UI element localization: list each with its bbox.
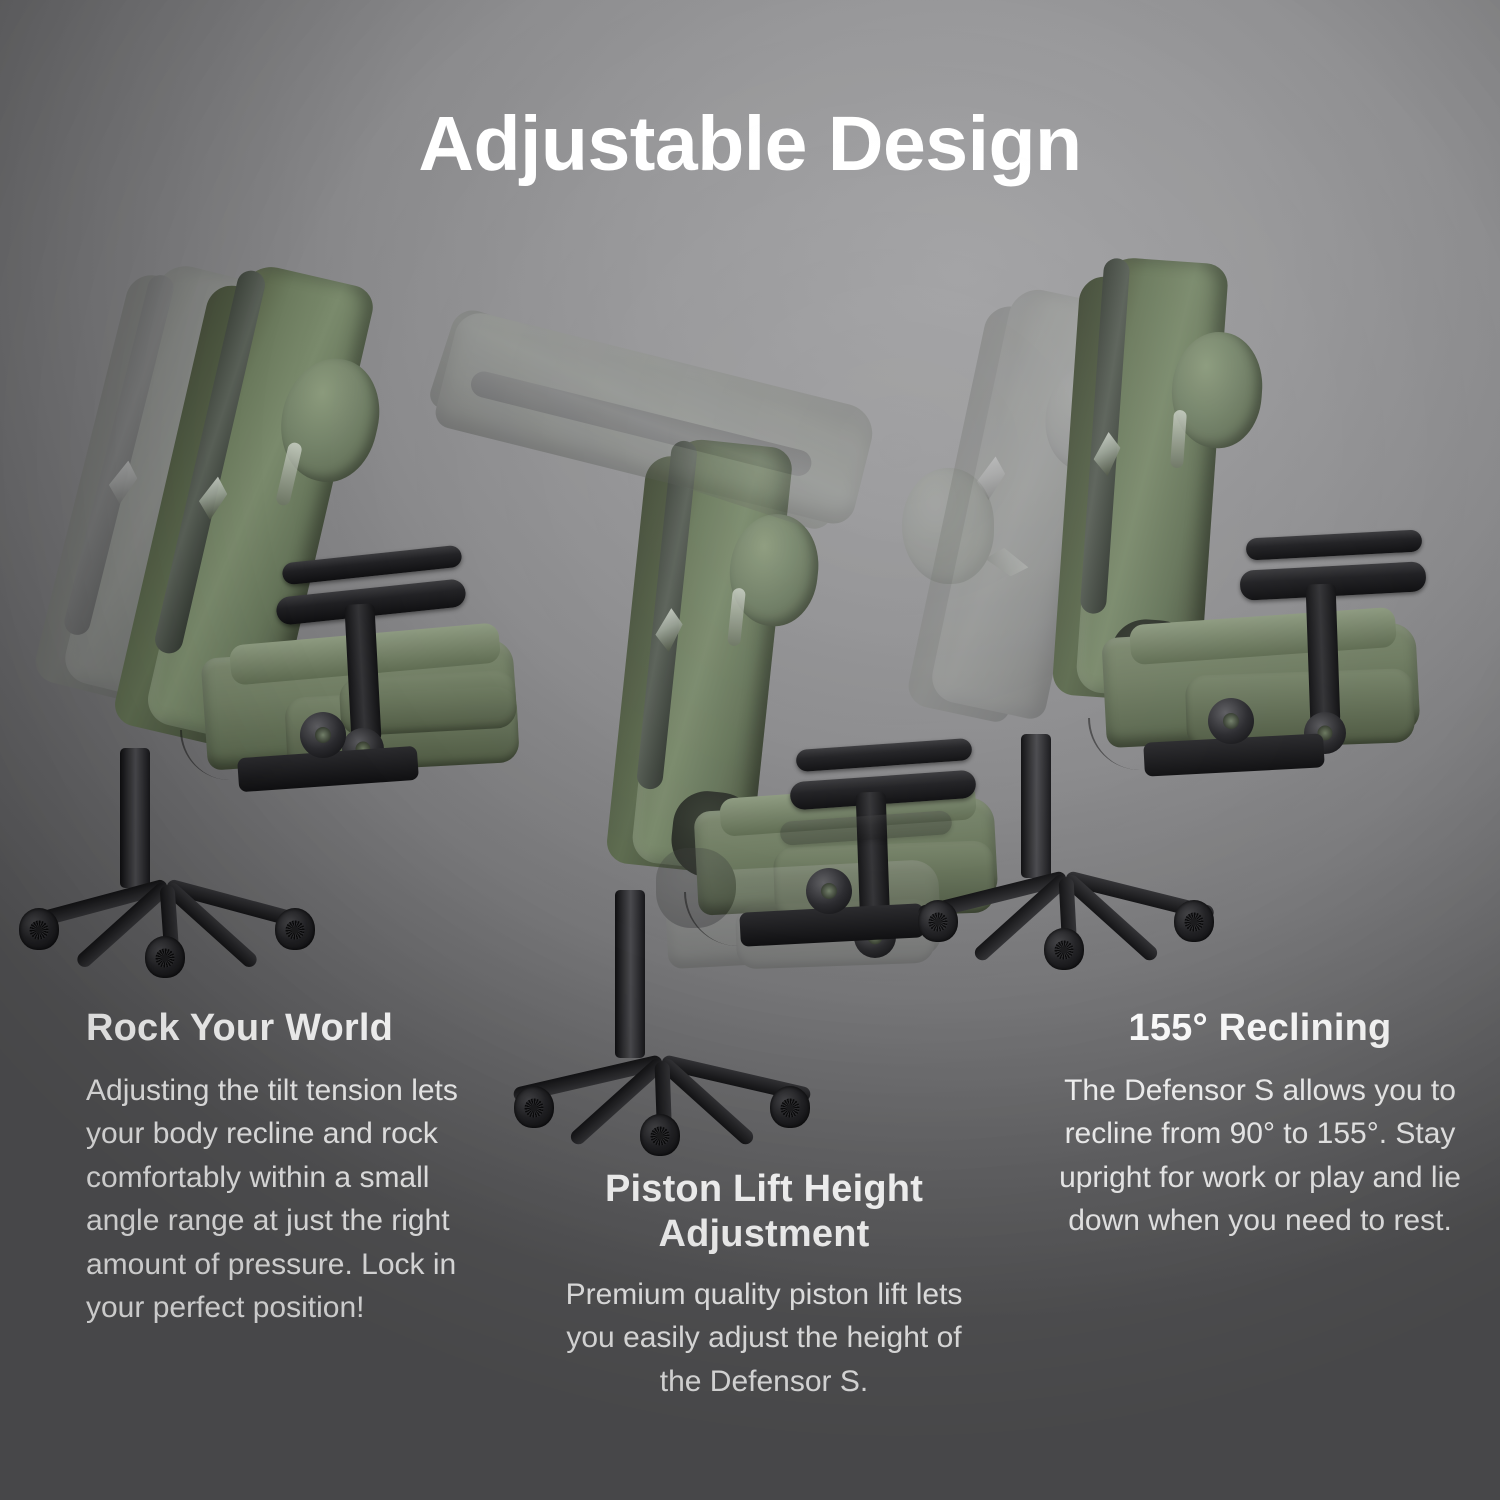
feature-heading: Rock Your World [86,1006,506,1051]
gas-piston-cylinder [615,890,645,1058]
product-image-chair-reclining [930,250,1470,960]
feature-body: Adjusting the tilt tension lets your bod… [86,1069,506,1330]
chair-base [908,750,1256,950]
caster [145,936,185,978]
tilt-tension-knob [300,712,346,758]
chair-base [7,760,357,960]
feature-body: The Defensor S allows you to recline fro… [1050,1069,1470,1243]
caster [19,908,59,950]
feature-heading: Piston Lift Height Adjustment [553,1167,975,1257]
tilt-tension-knob [1208,698,1254,744]
feature-column-rock-your-world: Rock Your World Adjusting the tilt tensi… [86,1006,506,1330]
caster [514,1086,554,1128]
caster [1044,928,1084,970]
feature-column-155-reclining: 155° Reclining The Defensor S allows you… [1050,1006,1470,1243]
caster [275,908,315,950]
feature-column-piston-lift: Piston Lift Height Adjustment Premium qu… [553,1167,975,1403]
feature-heading: 155° Reclining [1050,1006,1470,1051]
caster [918,900,958,942]
caster [770,1086,810,1128]
armrest [1230,528,1440,758]
feature-body: Premium quality piston lift lets you eas… [553,1273,975,1404]
infographic-canvas: Adjustable Design [0,0,1500,1500]
chair-base [508,930,848,1140]
tilt-tension-knob [806,868,852,914]
caster [1174,900,1214,942]
page-title: Adjustable Design [0,106,1500,183]
caster [640,1114,680,1156]
